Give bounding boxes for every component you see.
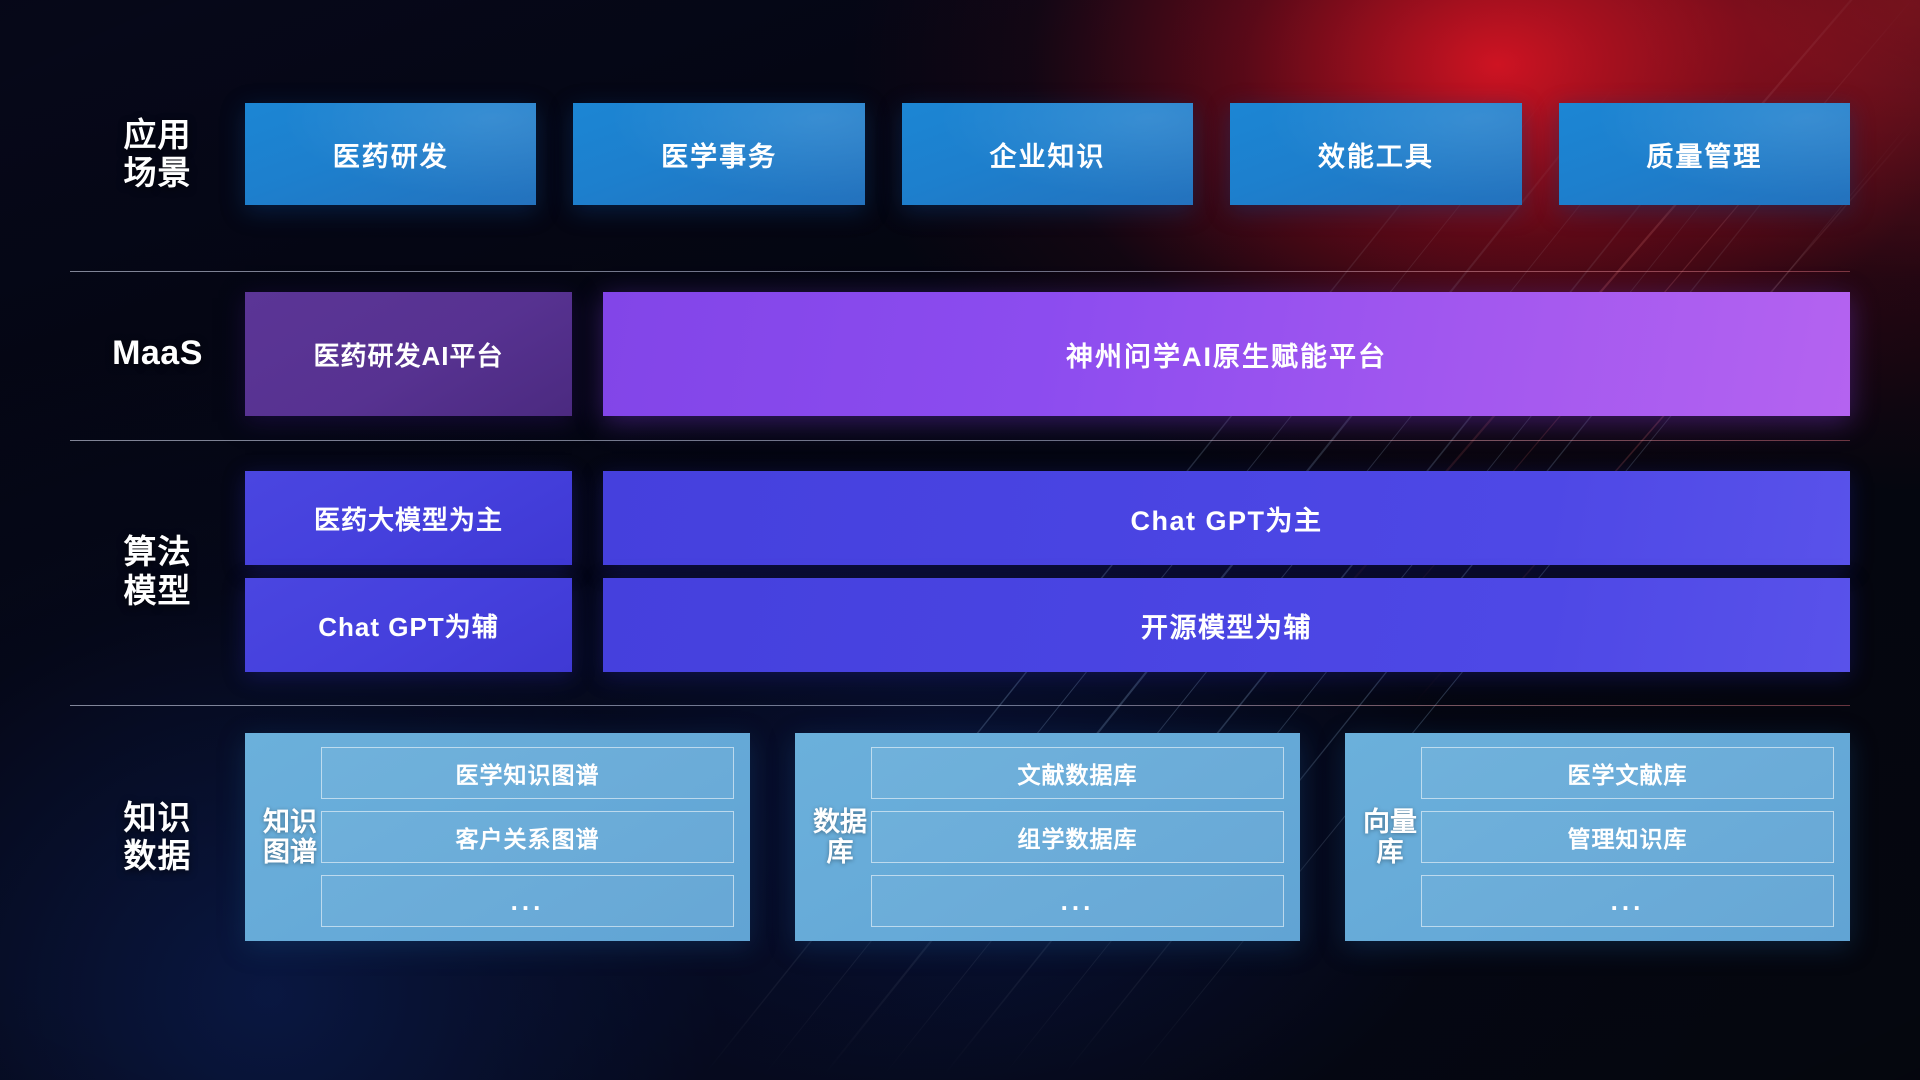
divider-1 xyxy=(70,271,1850,272)
knowledge-data-panels: 知识图谱 医学知识图谱 客户关系图谱 ... 数据库 文献数据库 组学数据库 .… xyxy=(245,733,1850,941)
row-label-maas: MaaS xyxy=(70,334,245,373)
algo-box-pharma-large-model-primary[interactable]: 医药大模型为主 xyxy=(245,471,572,565)
algorithm-model-list: 医药大模型为主 Chat GPT为主 Chat GPT为辅 开源模型为辅 xyxy=(245,471,1850,672)
knowledge-item-more-database[interactable]: ... xyxy=(871,875,1284,927)
knowledge-panel-title-vector-store: 向量库 xyxy=(1359,747,1421,927)
row-label-application-scenarios: 应用 场景 xyxy=(70,116,245,193)
app-box-enterprise-knowledge[interactable]: 企业知识 xyxy=(902,103,1193,205)
row-application-scenarios: 应用 场景 医药研发 医学事务 企业知识 效能工具 质量管理 xyxy=(70,103,1850,205)
application-scenario-list: 医药研发 医学事务 企业知识 效能工具 质量管理 xyxy=(245,103,1850,205)
row-maas: MaaS 医药研发AI平台 神州问学AI原生赋能平台 xyxy=(70,292,1850,416)
knowledge-item-more-vector-store[interactable]: ... xyxy=(1421,875,1834,927)
row-knowledge-data: 知识 数据 知识图谱 医学知识图谱 客户关系图谱 ... 数据库 xyxy=(70,733,1850,941)
diagram-rows: 应用 场景 医药研发 医学事务 企业知识 效能工具 质量管理 MaaS 医药研发… xyxy=(0,0,1920,1080)
row-label-algorithm-models: 算法 模型 xyxy=(70,533,245,610)
row-algorithm-models: 算法 模型 医药大模型为主 Chat GPT为主 Chat GPT为辅 开源模型… xyxy=(70,471,1850,672)
knowledge-panel-title-knowledge-graph: 知识图谱 xyxy=(259,747,321,927)
maas-box-pharma-ai-platform[interactable]: 医药研发AI平台 xyxy=(245,292,572,416)
divider-2 xyxy=(70,440,1850,441)
knowledge-item-management-knowledge-store[interactable]: 管理知识库 xyxy=(1421,811,1834,863)
maas-list: 医药研发AI平台 神州问学AI原生赋能平台 xyxy=(245,292,1850,416)
knowledge-panel-knowledge-graph: 知识图谱 医学知识图谱 客户关系图谱 ... xyxy=(245,733,750,941)
algo-box-chatgpt-secondary[interactable]: Chat GPT为辅 xyxy=(245,578,572,672)
app-box-medical-rd[interactable]: 医药研发 xyxy=(245,103,536,205)
knowledge-item-more-knowledge-graph[interactable]: ... xyxy=(321,875,734,927)
knowledge-panel-items-knowledge-graph: 医学知识图谱 客户关系图谱 ... xyxy=(321,747,734,927)
knowledge-panel-vector-store: 向量库 医学文献库 管理知识库 ... xyxy=(1345,733,1850,941)
knowledge-panel-items-database: 文献数据库 组学数据库 ... xyxy=(871,747,1284,927)
app-box-quality-management[interactable]: 质量管理 xyxy=(1559,103,1850,205)
row-label-knowledge-data: 知识 数据 xyxy=(70,799,245,876)
app-box-medical-affairs[interactable]: 医学事务 xyxy=(573,103,864,205)
knowledge-item-omics-database[interactable]: 组学数据库 xyxy=(871,811,1284,863)
knowledge-panel-database: 数据库 文献数据库 组学数据库 ... xyxy=(795,733,1300,941)
app-box-efficiency-tools[interactable]: 效能工具 xyxy=(1230,103,1521,205)
maas-box-shenzhou-wenxue-platform[interactable]: 神州问学AI原生赋能平台 xyxy=(603,292,1850,416)
knowledge-item-customer-relation-graph[interactable]: 客户关系图谱 xyxy=(321,811,734,863)
divider-3 xyxy=(70,705,1850,706)
knowledge-panel-title-database: 数据库 xyxy=(809,747,871,927)
knowledge-panel-items-vector-store: 医学文献库 管理知识库 ... xyxy=(1421,747,1834,927)
algo-box-chatgpt-primary[interactable]: Chat GPT为主 xyxy=(603,471,1850,565)
algorithm-line-primary: 医药大模型为主 Chat GPT为主 xyxy=(245,471,1850,565)
slide-canvas: 应用 场景 医药研发 医学事务 企业知识 效能工具 质量管理 MaaS 医药研发… xyxy=(0,0,1920,1080)
algo-box-opensource-secondary[interactable]: 开源模型为辅 xyxy=(603,578,1850,672)
algorithm-line-secondary: Chat GPT为辅 开源模型为辅 xyxy=(245,578,1850,672)
knowledge-item-literature-database[interactable]: 文献数据库 xyxy=(871,747,1284,799)
knowledge-item-medical-literature-store[interactable]: 医学文献库 xyxy=(1421,747,1834,799)
knowledge-item-medical-knowledge-graph[interactable]: 医学知识图谱 xyxy=(321,747,734,799)
